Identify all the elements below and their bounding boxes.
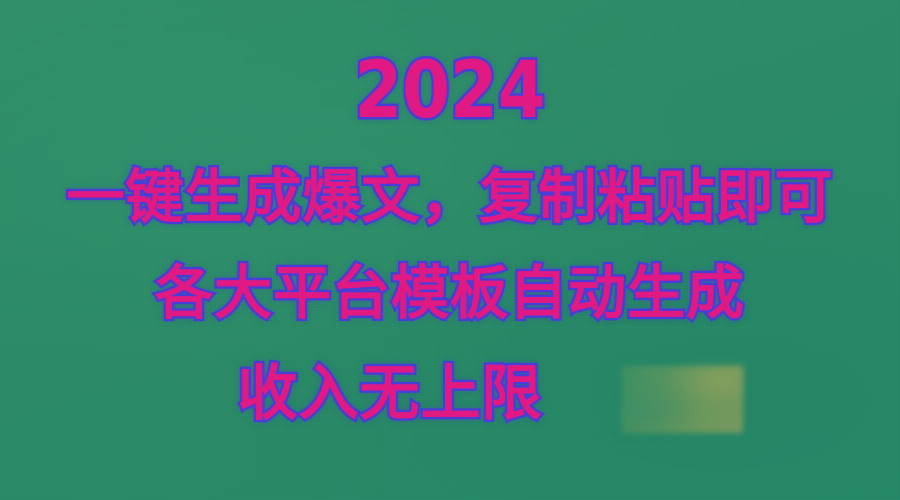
poster-headline-line-two: 各大平台模板自动生成 bbox=[0, 264, 900, 322]
poster-headline-year: 2024 bbox=[54, 52, 846, 130]
poster-headline-line-one: 一键生成爆文，复制粘贴即可 bbox=[0, 168, 900, 226]
poster-canvas: 2024 一键生成爆文，复制粘贴即可 各大平台模板自动生成 收入无上限 bbox=[0, 0, 900, 500]
blurred-watermark-region bbox=[622, 366, 743, 433]
